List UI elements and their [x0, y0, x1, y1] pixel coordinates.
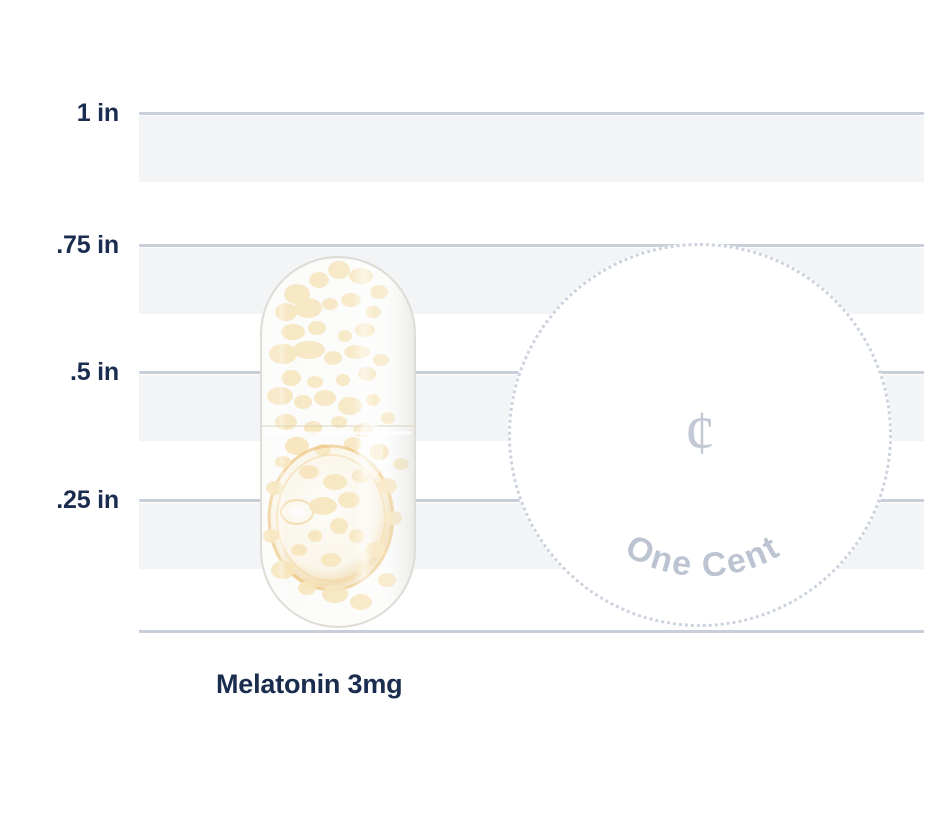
- axis-tick-labels: 1 in .75 in .5 in .25 in: [0, 0, 119, 820]
- axis-tick-label-75in: .75 in: [56, 233, 119, 258]
- grid-line-1in: [139, 112, 924, 115]
- penny-arc-text: One Cent: [511, 246, 895, 630]
- product-caption: Melatonin 3mg: [216, 669, 402, 700]
- reference-coin-penny: ¢ One Cent: [508, 243, 892, 627]
- product-capsule-image: [253, 250, 423, 634]
- grid-band-1: [139, 116, 924, 182]
- axis-tick-label-5in: .5 in: [70, 360, 119, 385]
- axis-tick-label-1in: 1 in: [77, 101, 119, 126]
- axis-tick-label-25in: .25 in: [56, 488, 119, 513]
- size-comparison-figure: 1 in .75 in .5 in .25 in ¢ One Cent: [0, 0, 950, 820]
- svg-text:One Cent: One Cent: [620, 527, 787, 584]
